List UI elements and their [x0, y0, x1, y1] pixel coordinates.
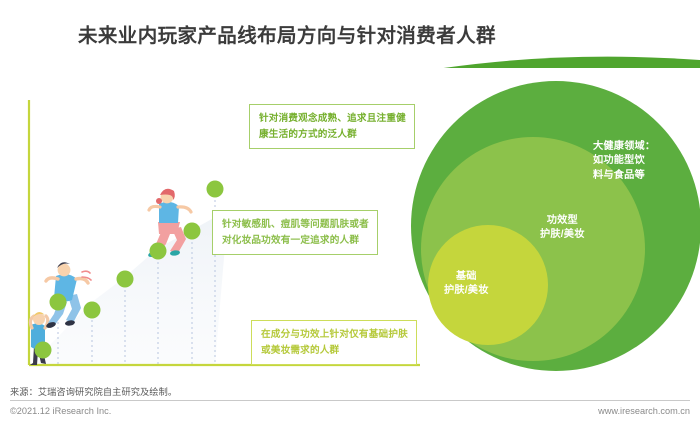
- source-note: 来源：艾瑞咨询研究院自主研究及绘制。: [10, 384, 177, 398]
- website-url: www.iresearch.com.cn: [598, 406, 690, 416]
- data-point: [35, 342, 52, 359]
- header-accent-swoosh: [0, 44, 700, 68]
- circle-label-basic-beauty: 基础 护肤/美妆: [444, 270, 489, 299]
- data-point: [150, 243, 167, 260]
- data-point: [117, 271, 134, 288]
- data-point: [84, 302, 101, 319]
- footer-divider: [10, 400, 690, 401]
- infographic-page: 未来业内玩家产品线布局方向与针对消费者人群: [0, 0, 700, 426]
- data-point: [184, 223, 201, 240]
- data-point: [207, 181, 224, 198]
- data-point: [50, 294, 67, 311]
- concentric-circle-diagram: 大健康领域： 如功能型饮 料与食品等 功效型 护肤/美妆 基础 护肤/美妆: [400, 72, 700, 384]
- circle-label-efficacy-beauty: 功效型 护肤/美妆: [540, 214, 585, 243]
- callout-pan-crowd: 针对消费观念成熟、追求且注重健康生活的方式的泛人群: [249, 104, 415, 149]
- callout-basic-crowd: 在成分与功效上针对仅有基础护肤或美妆需求的人群: [251, 320, 417, 365]
- circle-label-health-domain: 大健康领域： 如功能型饮 料与食品等: [593, 140, 655, 183]
- callout-efficacy-crowd: 针对敏感肌、痘肌等问题肌肤或者对化妆品功效有一定追求的人群: [212, 210, 378, 255]
- copyright-text: ©2021.12 iResearch Inc.: [10, 406, 111, 416]
